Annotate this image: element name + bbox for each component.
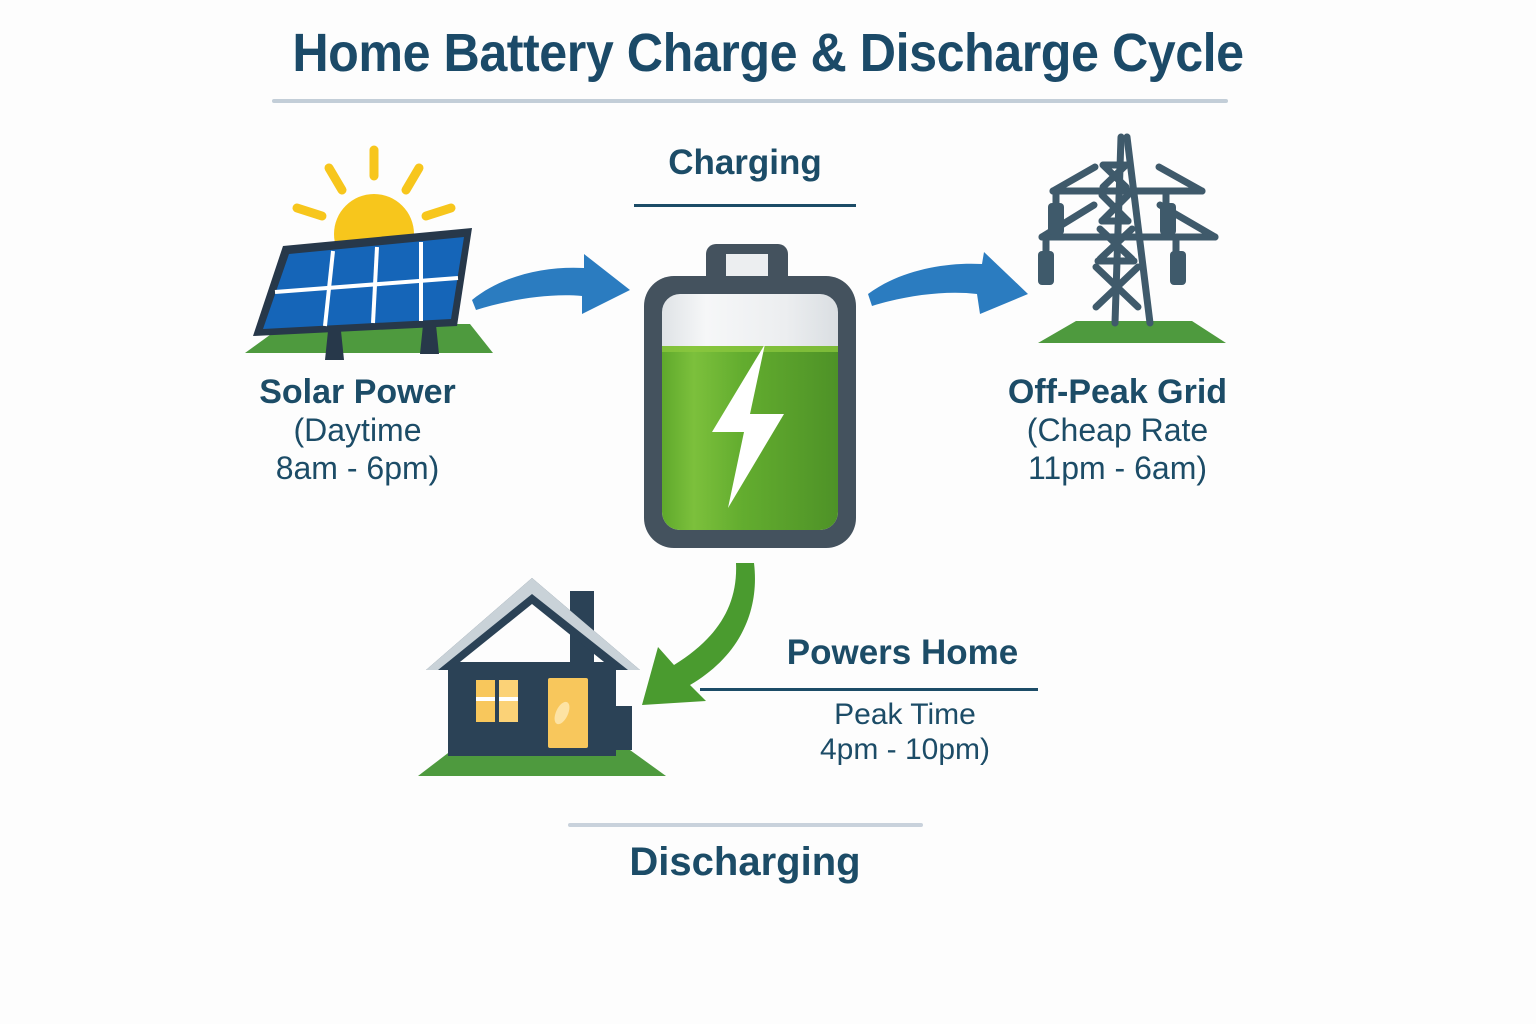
house-body	[448, 662, 632, 756]
grid-label-sub-1: (Cheap Rate	[965, 412, 1270, 450]
grid-label-group: Off-Peak Grid (Cheap Rate 11pm - 6am)	[965, 372, 1270, 488]
infographic-canvas: Home Battery Charge & Discharge Cycle Ch…	[0, 0, 1536, 1024]
powers-home-label: Powers Home	[700, 633, 1105, 673]
title-divider	[272, 99, 1228, 103]
charging-underline	[634, 204, 856, 207]
charging-label: Charging	[615, 143, 875, 183]
battery-charging-icon	[634, 240, 866, 556]
door	[548, 678, 588, 748]
discharging-label: Discharging	[545, 840, 945, 885]
grid-label-head: Off-Peak Grid	[965, 372, 1270, 412]
solar-label-group: Solar Power (Daytime 8am - 6pm)	[205, 372, 510, 488]
grass-mound	[1038, 321, 1226, 343]
solar-label-sub-1: (Daytime	[205, 412, 510, 450]
grid-label-sub-2: 11pm - 6am)	[965, 450, 1270, 488]
window	[476, 680, 518, 722]
solar-label-head: Solar Power	[205, 372, 510, 412]
discharging-divider	[568, 823, 923, 827]
home-label-group: Peak Time 4pm - 10pm)	[710, 697, 1100, 768]
home-label-sub-2: 4pm - 10pm)	[710, 732, 1100, 767]
page-title: Home Battery Charge & Discharge Cycle	[54, 22, 1482, 84]
solar-panel-with-sun-icon	[225, 128, 495, 363]
solar-label-sub-2: 8am - 6pm)	[205, 450, 510, 488]
house-icon	[408, 558, 676, 790]
curved-blue-arrow-right-icon-1	[462, 248, 642, 330]
home-label-sub-1: Peak Time	[710, 697, 1100, 732]
curved-blue-arrow-right-icon-2	[858, 248, 1038, 330]
transmission-tower-icon	[1020, 125, 1235, 350]
powers-home-underline	[700, 688, 1038, 691]
